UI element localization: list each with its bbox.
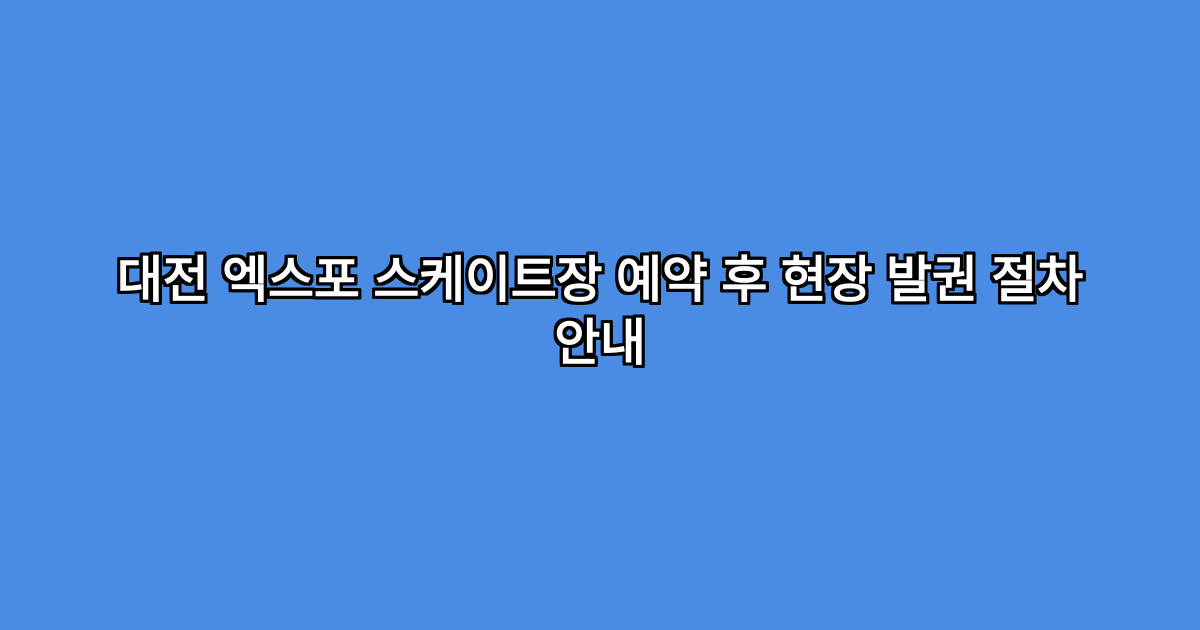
page-title: 대전 엑스포 스케이트장 예약 후 현장 발권 절차 안내 (70, 249, 1130, 375)
og-share-card: 대전 엑스포 스케이트장 예약 후 현장 발권 절차 안내 (0, 0, 1200, 630)
headline-block: 대전 엑스포 스케이트장 예약 후 현장 발권 절차 안내 (70, 249, 1130, 375)
